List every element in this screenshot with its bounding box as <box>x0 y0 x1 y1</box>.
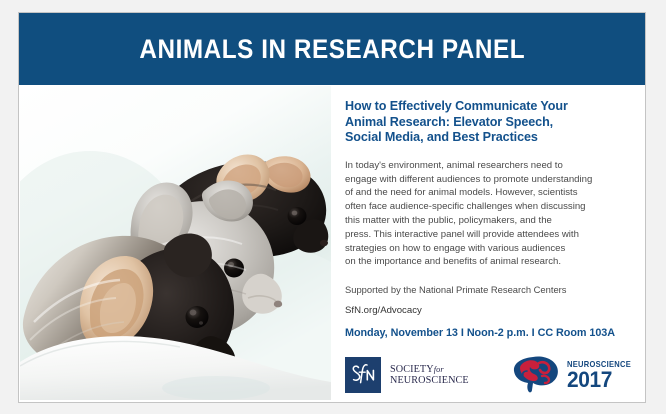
event-date: Monday, November 13 <box>345 327 458 339</box>
description-line-4: often face audience-specific challenges … <box>345 200 637 214</box>
sfn-line1-italic: for <box>434 365 444 374</box>
sfn-logo: SOCIETYfor NEUROSCIENCE <box>345 357 469 393</box>
event-separator-2: I <box>529 327 538 339</box>
description-line-2: engage with different audiences to promo… <box>345 173 637 187</box>
session-headline: How to Effectively Communicate Your Anim… <box>345 99 637 146</box>
headline-line-3: Social Media, and Best Practices <box>345 130 637 146</box>
headline-line-2: Animal Research: Elevator Speech, <box>345 115 637 131</box>
sfn-monogram-icon <box>345 357 381 393</box>
session-description: In today's environment, animal researche… <box>345 159 637 269</box>
event-separator-1: I <box>458 327 467 339</box>
description-line-6: press. This interactive panel will provi… <box>345 228 637 242</box>
website-url[interactable]: SfN.org/Advocacy <box>345 304 637 317</box>
description-line-8: on the importance and benefits of animal… <box>345 255 637 269</box>
event-promo-card: ANIMALS IN RESEARCH PANEL <box>18 12 646 403</box>
page-title: ANIMALS IN RESEARCH PANEL <box>139 34 525 65</box>
sfn-wordmark: SOCIETYfor NEUROSCIENCE <box>390 364 469 387</box>
description-line-1: In today's environment, animal researche… <box>345 159 637 173</box>
sfn-line2: NEUROSCIENCE <box>390 375 469 386</box>
headline-line-1: How to Effectively Communicate Your <box>345 99 637 115</box>
event-time: Noon-2 p.m. <box>467 327 529 339</box>
logo-row: SOCIETYfor NEUROSCIENCE NEUROSC <box>345 357 645 401</box>
neuroscience-2017-wordmark: NEUROSCIENCE 2017 <box>567 360 637 390</box>
description-line-5: this matter with the public, policymaker… <box>345 214 637 228</box>
brain-icon <box>509 354 561 396</box>
sfn-line1: SOCIETY <box>390 364 434 375</box>
neuroscience-2017-logo: NEUROSCIENCE 2017 <box>509 354 637 396</box>
description-line-3: of and the need for animal models. Howev… <box>345 186 637 200</box>
header-banner: ANIMALS IN RESEARCH PANEL <box>19 13 645 85</box>
neuroscience-year: 2017 <box>567 369 633 390</box>
description-line-7: strategies on how to engage with various… <box>345 242 637 256</box>
body-area: How to Effectively Communicate Your Anim… <box>19 85 645 402</box>
content-column: How to Effectively Communicate Your Anim… <box>345 99 637 339</box>
three-laboratory-mice-photo <box>20 86 331 400</box>
event-details: Monday, November 13INoon-2 p.m.ICC Room … <box>345 327 637 339</box>
supported-by-text: Supported by the National Primate Resear… <box>345 283 637 296</box>
event-location: CC Room 103A <box>538 327 615 339</box>
